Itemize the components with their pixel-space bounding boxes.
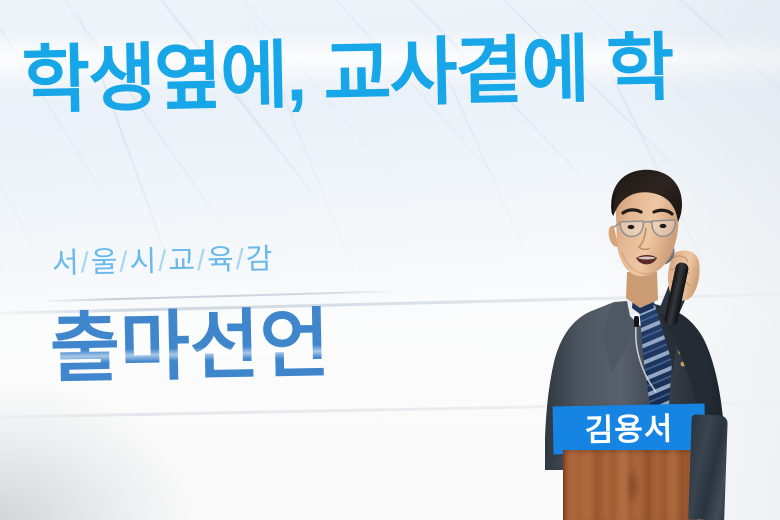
- subtitle-part-1: 울: [90, 247, 118, 280]
- subtitle-separator: /: [196, 245, 208, 277]
- subtitle-part-3: 교: [168, 245, 196, 278]
- subtitle-part-4: 육: [207, 244, 235, 277]
- subtitle-separator: /: [79, 247, 91, 279]
- banner-subtitle: 서/울/시/교/육/감: [52, 235, 274, 282]
- podium-lectern: [563, 450, 697, 520]
- podium-wood-knot: [622, 457, 644, 515]
- subtitle-part-5: 감: [245, 243, 273, 276]
- nameplate-text: 김용서: [584, 413, 673, 446]
- subtitle-part-0: 서: [52, 247, 80, 280]
- photo-scene: 학생옆에, 교사곁에 학 서/울/시/교/육/감 출마선언: [0, 0, 780, 520]
- stage-drape: [688, 414, 728, 520]
- banner-headline: 학생옆에, 교사곁에 학: [21, 29, 673, 120]
- subtitle-separator: /: [118, 246, 130, 278]
- subtitle-separator: /: [234, 244, 246, 276]
- banner-big-line: 출마선언: [49, 307, 330, 388]
- podium-nameplate: 김용서: [553, 404, 706, 455]
- subtitle-part-2: 시: [129, 246, 157, 279]
- canopy-strut: [0, 0, 5, 273]
